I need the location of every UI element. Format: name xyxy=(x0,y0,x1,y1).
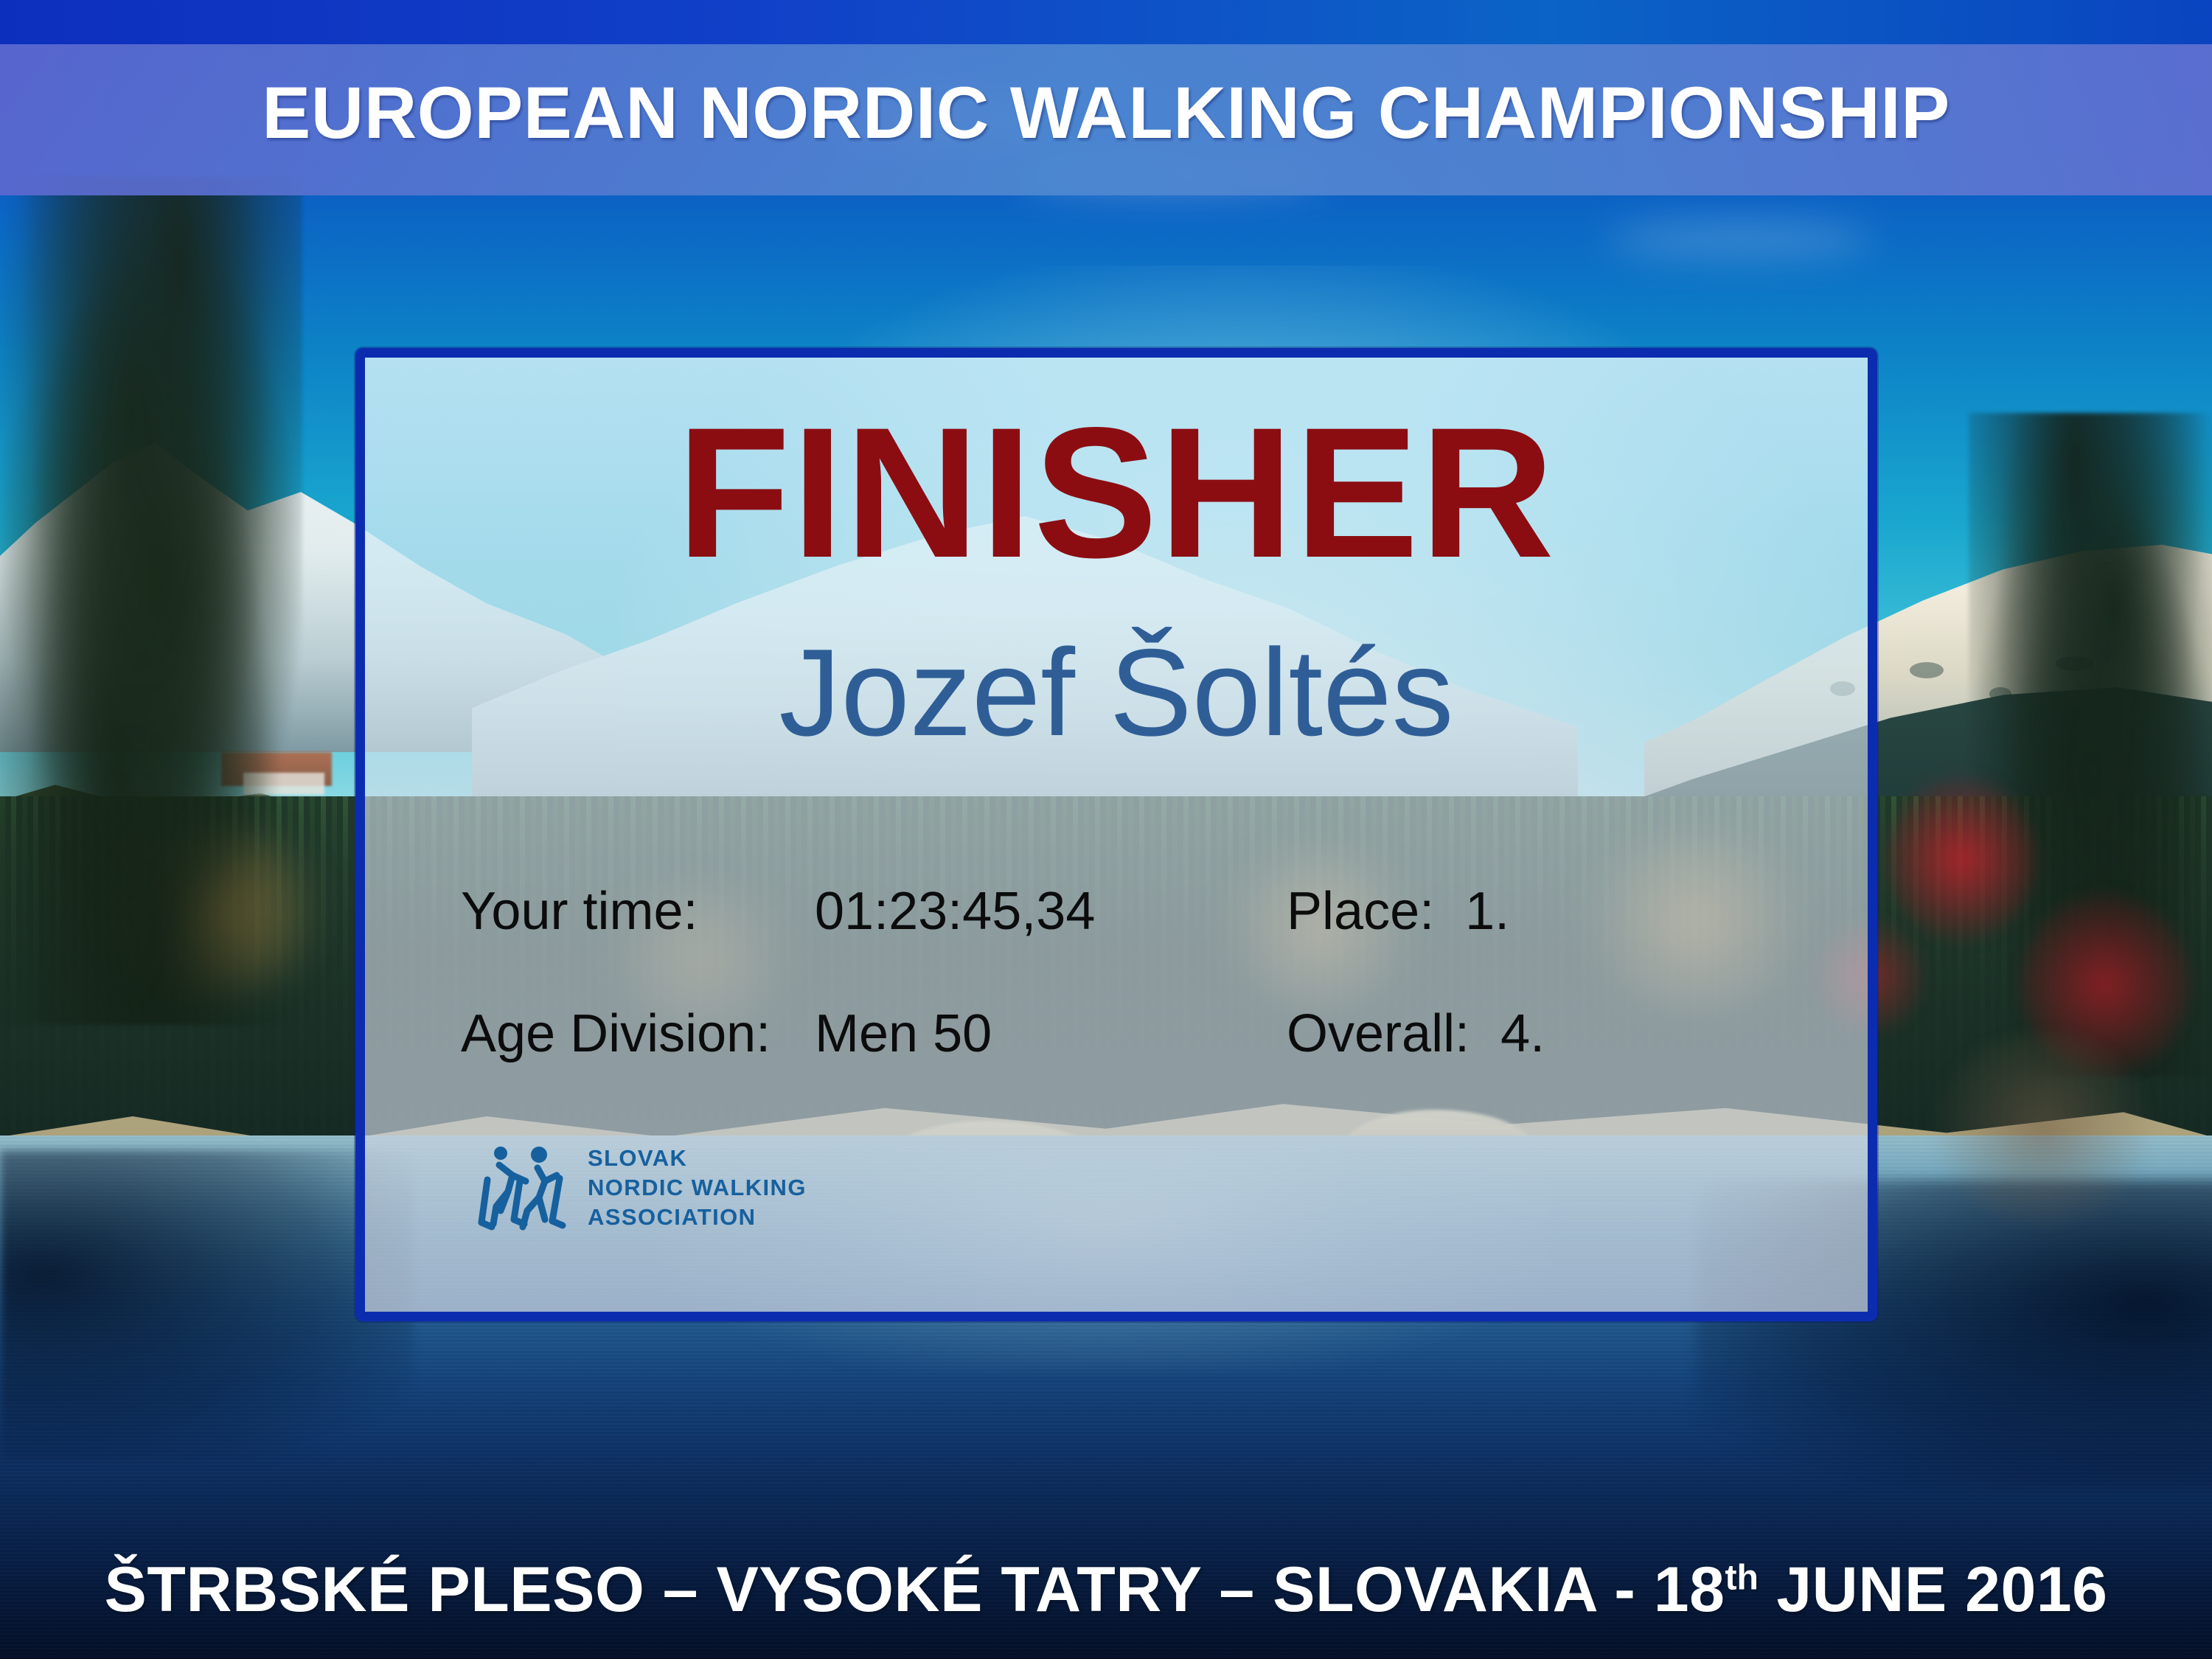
championship-title: EUROPEAN NORDIC WALKING CHAMPIONSHIP xyxy=(0,71,2212,155)
place-value: 1. xyxy=(1465,885,1509,938)
foreground-tree-left xyxy=(0,177,302,1025)
association-line-2: NORDIC WALKING xyxy=(588,1173,807,1203)
red-shrub xyxy=(1888,774,2035,944)
your-time-value: 01:23:45,34 xyxy=(815,885,1287,938)
finisher-certificate-card: FINISHER Jozef Šoltés Your time: 01:23:4… xyxy=(355,348,1877,1321)
result-row: Your time: 01:23:45,34 Place: 1. xyxy=(461,885,1714,938)
venue-footer: ŠTRBSKÉ PLESO – VYSOKÉ TATRY – SLOVAKIA … xyxy=(0,1554,2212,1627)
result-details: Your time: 01:23:45,34 Place: 1. Age Div… xyxy=(461,885,1714,1130)
walker-head xyxy=(531,1147,547,1163)
athlete-name: Jozef Šoltés xyxy=(365,630,1868,754)
association-name: SLOVAK NORDIC WALKING ASSOCIATION xyxy=(588,1144,807,1231)
overall-value: 4. xyxy=(1500,1007,1545,1060)
finisher-headline: FINISHER xyxy=(365,400,1868,586)
nordic-walker-icon xyxy=(474,1143,568,1233)
association-logo: SLOVAK NORDIC WALKING ASSOCIATION xyxy=(474,1143,807,1233)
certificate-poster: EUROPEAN NORDIC WALKING CHAMPIONSHIP FIN… xyxy=(0,0,2212,1659)
overall-group: Overall: 4. xyxy=(1287,1007,1596,1060)
water-shadow-left xyxy=(0,1150,413,1460)
association-line-1: SLOVAK xyxy=(588,1144,807,1173)
age-division-label: Age Division: xyxy=(461,1007,815,1060)
result-row: Age Division: Men 50 Overall: 4. xyxy=(461,1007,1714,1060)
walker-head-rear xyxy=(494,1147,507,1160)
place-group: Place: 1. xyxy=(1287,885,1596,938)
dry-shrub xyxy=(1932,1032,2153,1224)
cloud-wisp xyxy=(1607,221,1873,257)
age-division-value: Men 50 xyxy=(815,1007,1287,1060)
your-time-label: Your time: xyxy=(461,885,815,938)
header-top-strip xyxy=(0,0,2212,44)
place-label: Place: xyxy=(1287,882,1434,941)
association-line-3: ASSOCIATION xyxy=(588,1203,807,1232)
date-rest: JUNE 2016 xyxy=(1759,1554,2108,1625)
card-content: FINISHER Jozef Šoltés Your time: 01:23:4… xyxy=(365,358,1868,1312)
date-ordinal-suffix: th xyxy=(1725,1557,1758,1597)
venue-text: ŠTRBSKÉ PLESO – VYSOKÉ TATRY – SLOVAKIA … xyxy=(105,1554,1725,1625)
overall-label: Overall: xyxy=(1287,1004,1470,1063)
